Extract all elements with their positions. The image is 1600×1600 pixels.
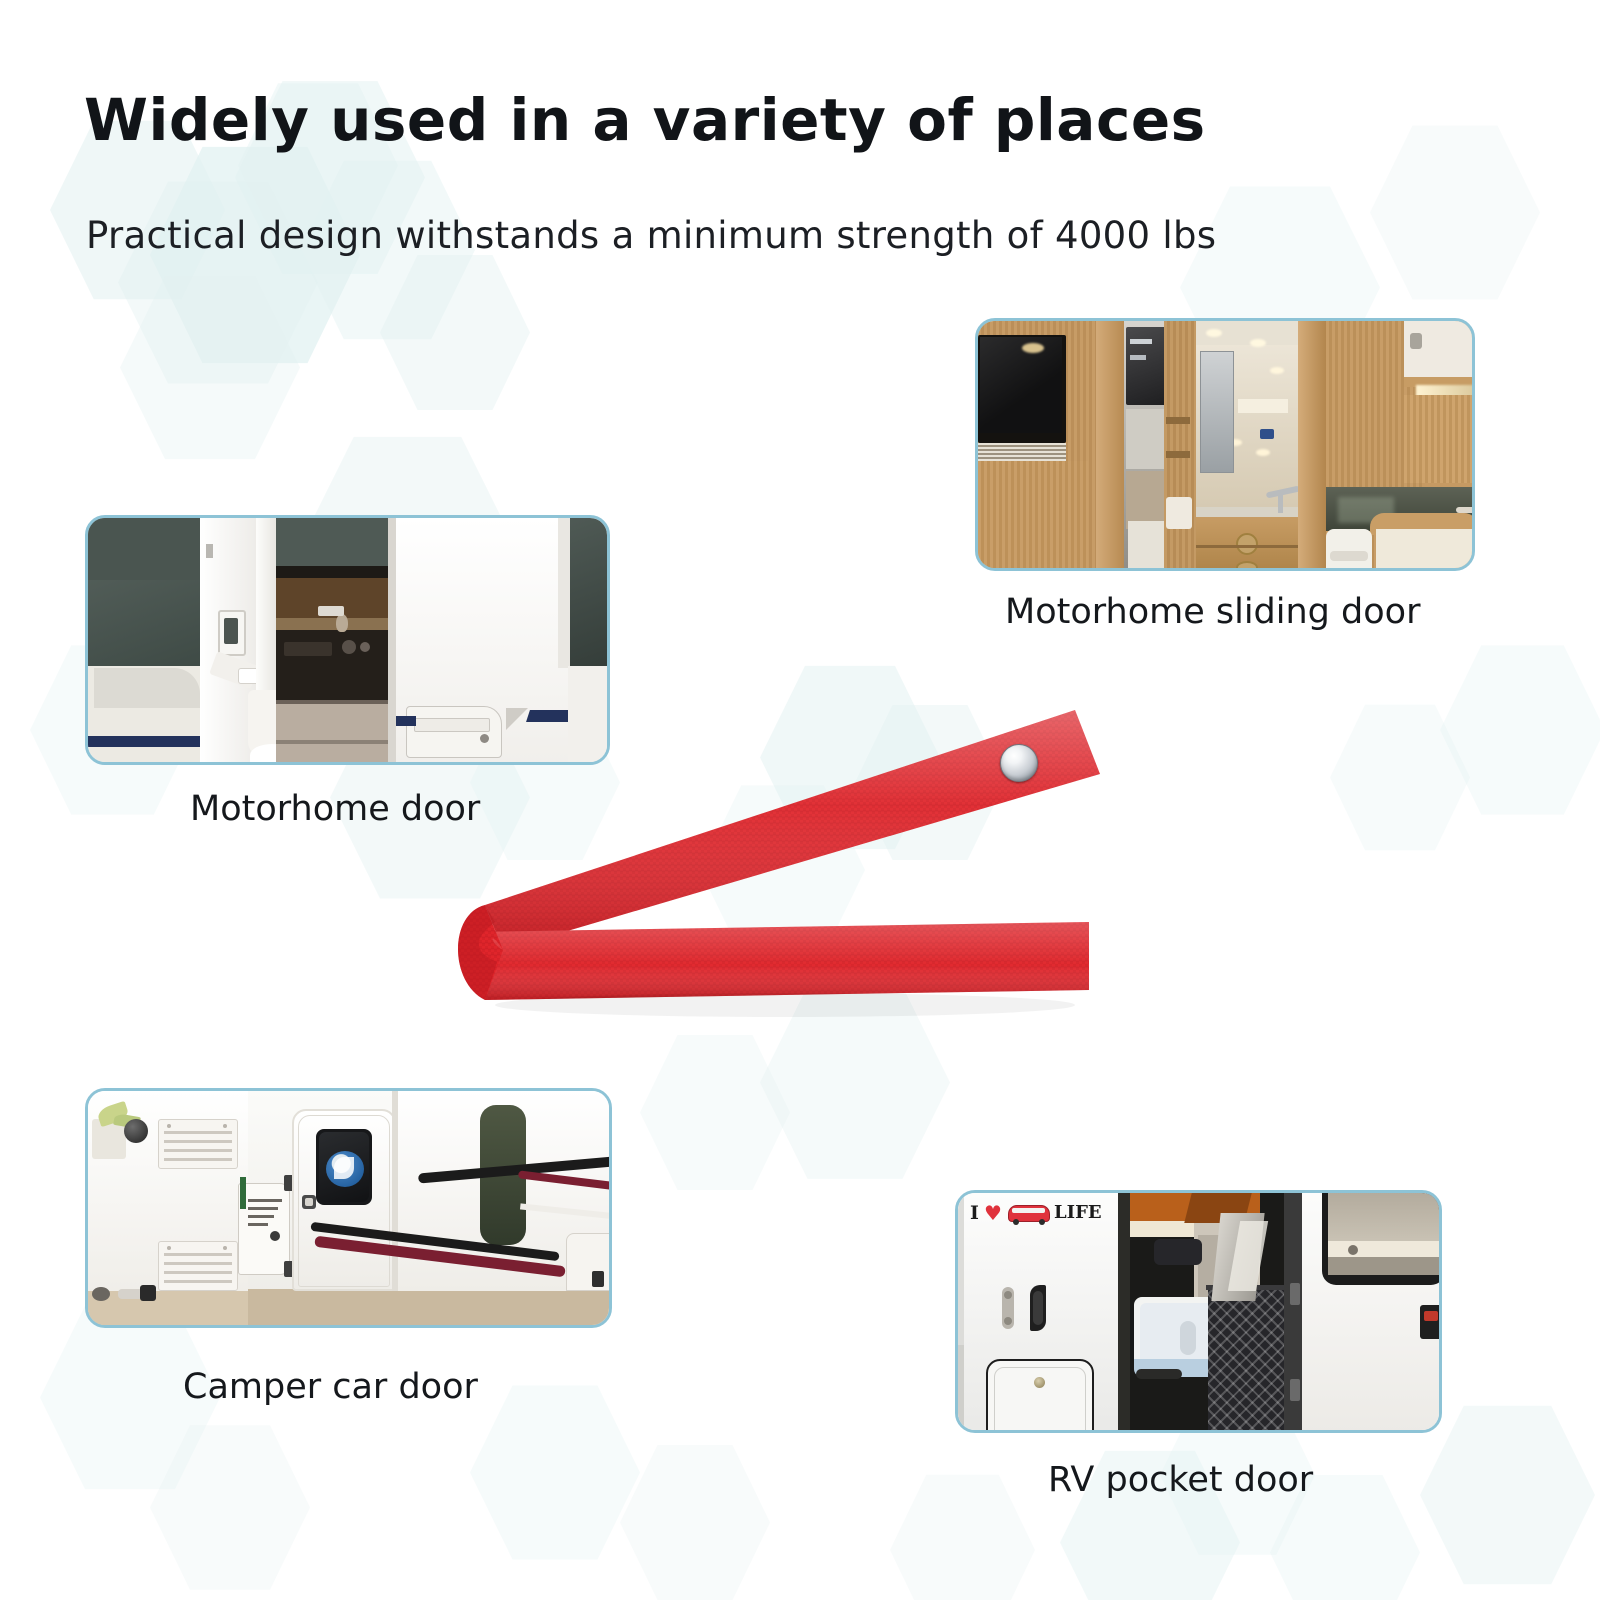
hexagon-shape bbox=[380, 250, 530, 415]
caption-camper-car-door: Camper car door bbox=[183, 1367, 478, 1407]
hexagon-shape bbox=[118, 175, 318, 390]
metal-snap-rivet-icon bbox=[1000, 744, 1038, 782]
photo-camper-car-door bbox=[88, 1091, 609, 1325]
hexagon-shape bbox=[1420, 1400, 1595, 1590]
hexagon-shape bbox=[1370, 120, 1540, 305]
hexagon-shape bbox=[640, 1030, 790, 1195]
photo-frame-rv-pocket-door[interactable]: I ♥ LIFE bbox=[955, 1190, 1442, 1433]
photo-frame-motorhome-sliding-door[interactable] bbox=[975, 318, 1475, 571]
infographic-canvas: Widely used in a variety of places Pract… bbox=[0, 0, 1600, 1600]
hexagon-shape bbox=[470, 1380, 640, 1565]
hexagon-shape bbox=[620, 1440, 770, 1600]
product-red-pull-strap bbox=[455, 700, 1115, 1030]
hexagon-shape bbox=[1440, 640, 1600, 820]
hexagon-shape bbox=[150, 1420, 310, 1595]
heart-icon: ♥ bbox=[984, 1201, 1002, 1225]
caption-motorhome-door: Motorhome door bbox=[190, 789, 480, 829]
caption-rv-pocket-door: RV pocket door bbox=[1048, 1460, 1313, 1500]
caption-motorhome-sliding-door: Motorhome sliding door bbox=[1005, 592, 1420, 632]
hexagon-shape bbox=[890, 1470, 1035, 1600]
photo-frame-camper-car-door[interactable] bbox=[85, 1088, 612, 1328]
photo-motorhome-sliding-door bbox=[978, 321, 1472, 568]
page-subtitle: Practical design withstands a minimum st… bbox=[86, 214, 1216, 257]
hexagon-shape bbox=[1330, 700, 1470, 855]
photo-rv-pocket-door: I ♥ LIFE bbox=[958, 1193, 1439, 1430]
hexagon-shape bbox=[120, 270, 300, 465]
page-title: Widely used in a variety of places bbox=[84, 86, 1206, 154]
decal-i-love-rv-life: I ♥ LIFE bbox=[970, 1201, 1080, 1225]
